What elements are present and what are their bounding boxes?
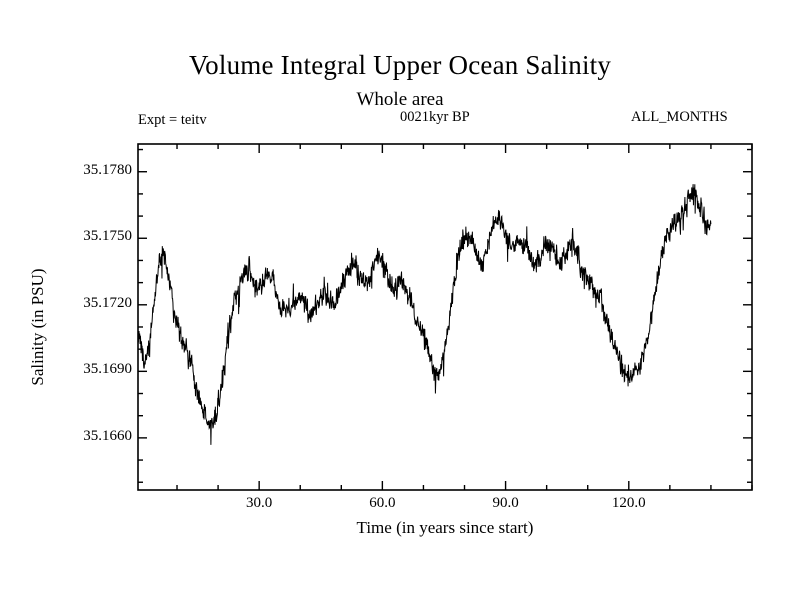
salinity-plot-figure: Volume Integral Upper Ocean Salinity Who…: [0, 0, 800, 600]
salinity-series-line: [138, 184, 711, 445]
plot-canvas: [0, 0, 800, 600]
